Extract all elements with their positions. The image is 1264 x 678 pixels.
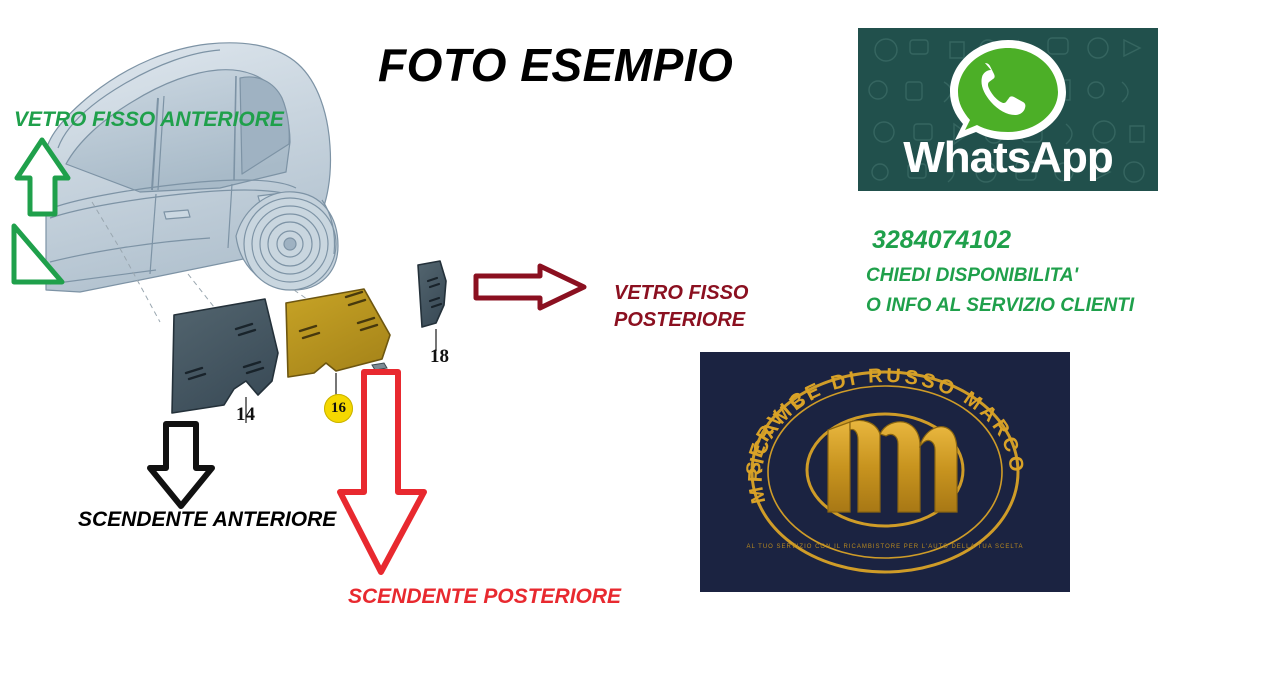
part-number-14: 14: [236, 404, 255, 426]
right-arrow-darkred-icon: [476, 266, 584, 308]
part-17-guide-clip: [372, 363, 387, 387]
part-number-badge-16: 16: [324, 394, 353, 423]
down-arrow-black-icon: [150, 424, 212, 506]
phone-number[interactable]: 3284074102: [872, 226, 1011, 255]
exploded-glass-parts: [150, 255, 480, 435]
poster-canvas: 14 16 17 18 FOTO ESEMPIO VETRO FISSO ANT…: [0, 0, 1264, 678]
svg-text:MRICAMBISTORE: MRICAMBISTORE: [700, 352, 820, 506]
label-vetro-fisso-anteriore: VETRO FISSO ANTERIORE: [14, 108, 284, 133]
label-vetro-fisso-posteriore: VETRO FISSO POSTERIORE: [614, 280, 748, 334]
whatsapp-wordmark: WhatsApp: [858, 133, 1158, 183]
part-16-rear-drop-glass: [286, 289, 390, 377]
label-vetro-fisso-posteriore-line1: VETRO FISSO: [614, 280, 748, 307]
part-14-front-drop-glass: [172, 299, 278, 413]
part-18-fixed-quarter-glass: [418, 261, 446, 327]
part-number-18: 18: [430, 346, 449, 368]
page-title: FOTO ESEMPIO: [378, 38, 733, 92]
label-scendente-anteriore: SCENDENTE ANTERIORE: [78, 508, 336, 533]
shop-logo-brand-arc: MRICAMBISTORE: [700, 352, 1070, 592]
label-scendente-posteriore: SCENDENTE POSTERIORE: [348, 585, 621, 610]
whatsapp-banner[interactable]: WhatsApp: [858, 28, 1158, 191]
label-vetro-fisso-posteriore-line2: POSTERIORE: [614, 307, 748, 334]
whatsapp-icon: [936, 34, 1081, 142]
contact-line-2: O INFO AL SERVIZIO CLIENTI: [866, 295, 1134, 317]
contact-line-1: CHIEDI DISPONIBILITA': [866, 265, 1078, 287]
shop-logo: SERVICE DI RUSSO MARCO AL TUO SERVIZIO C…: [700, 352, 1070, 592]
logo-brand-text: MRICAMBISTORE: [700, 352, 820, 506]
part-number-17: 17: [378, 396, 397, 418]
